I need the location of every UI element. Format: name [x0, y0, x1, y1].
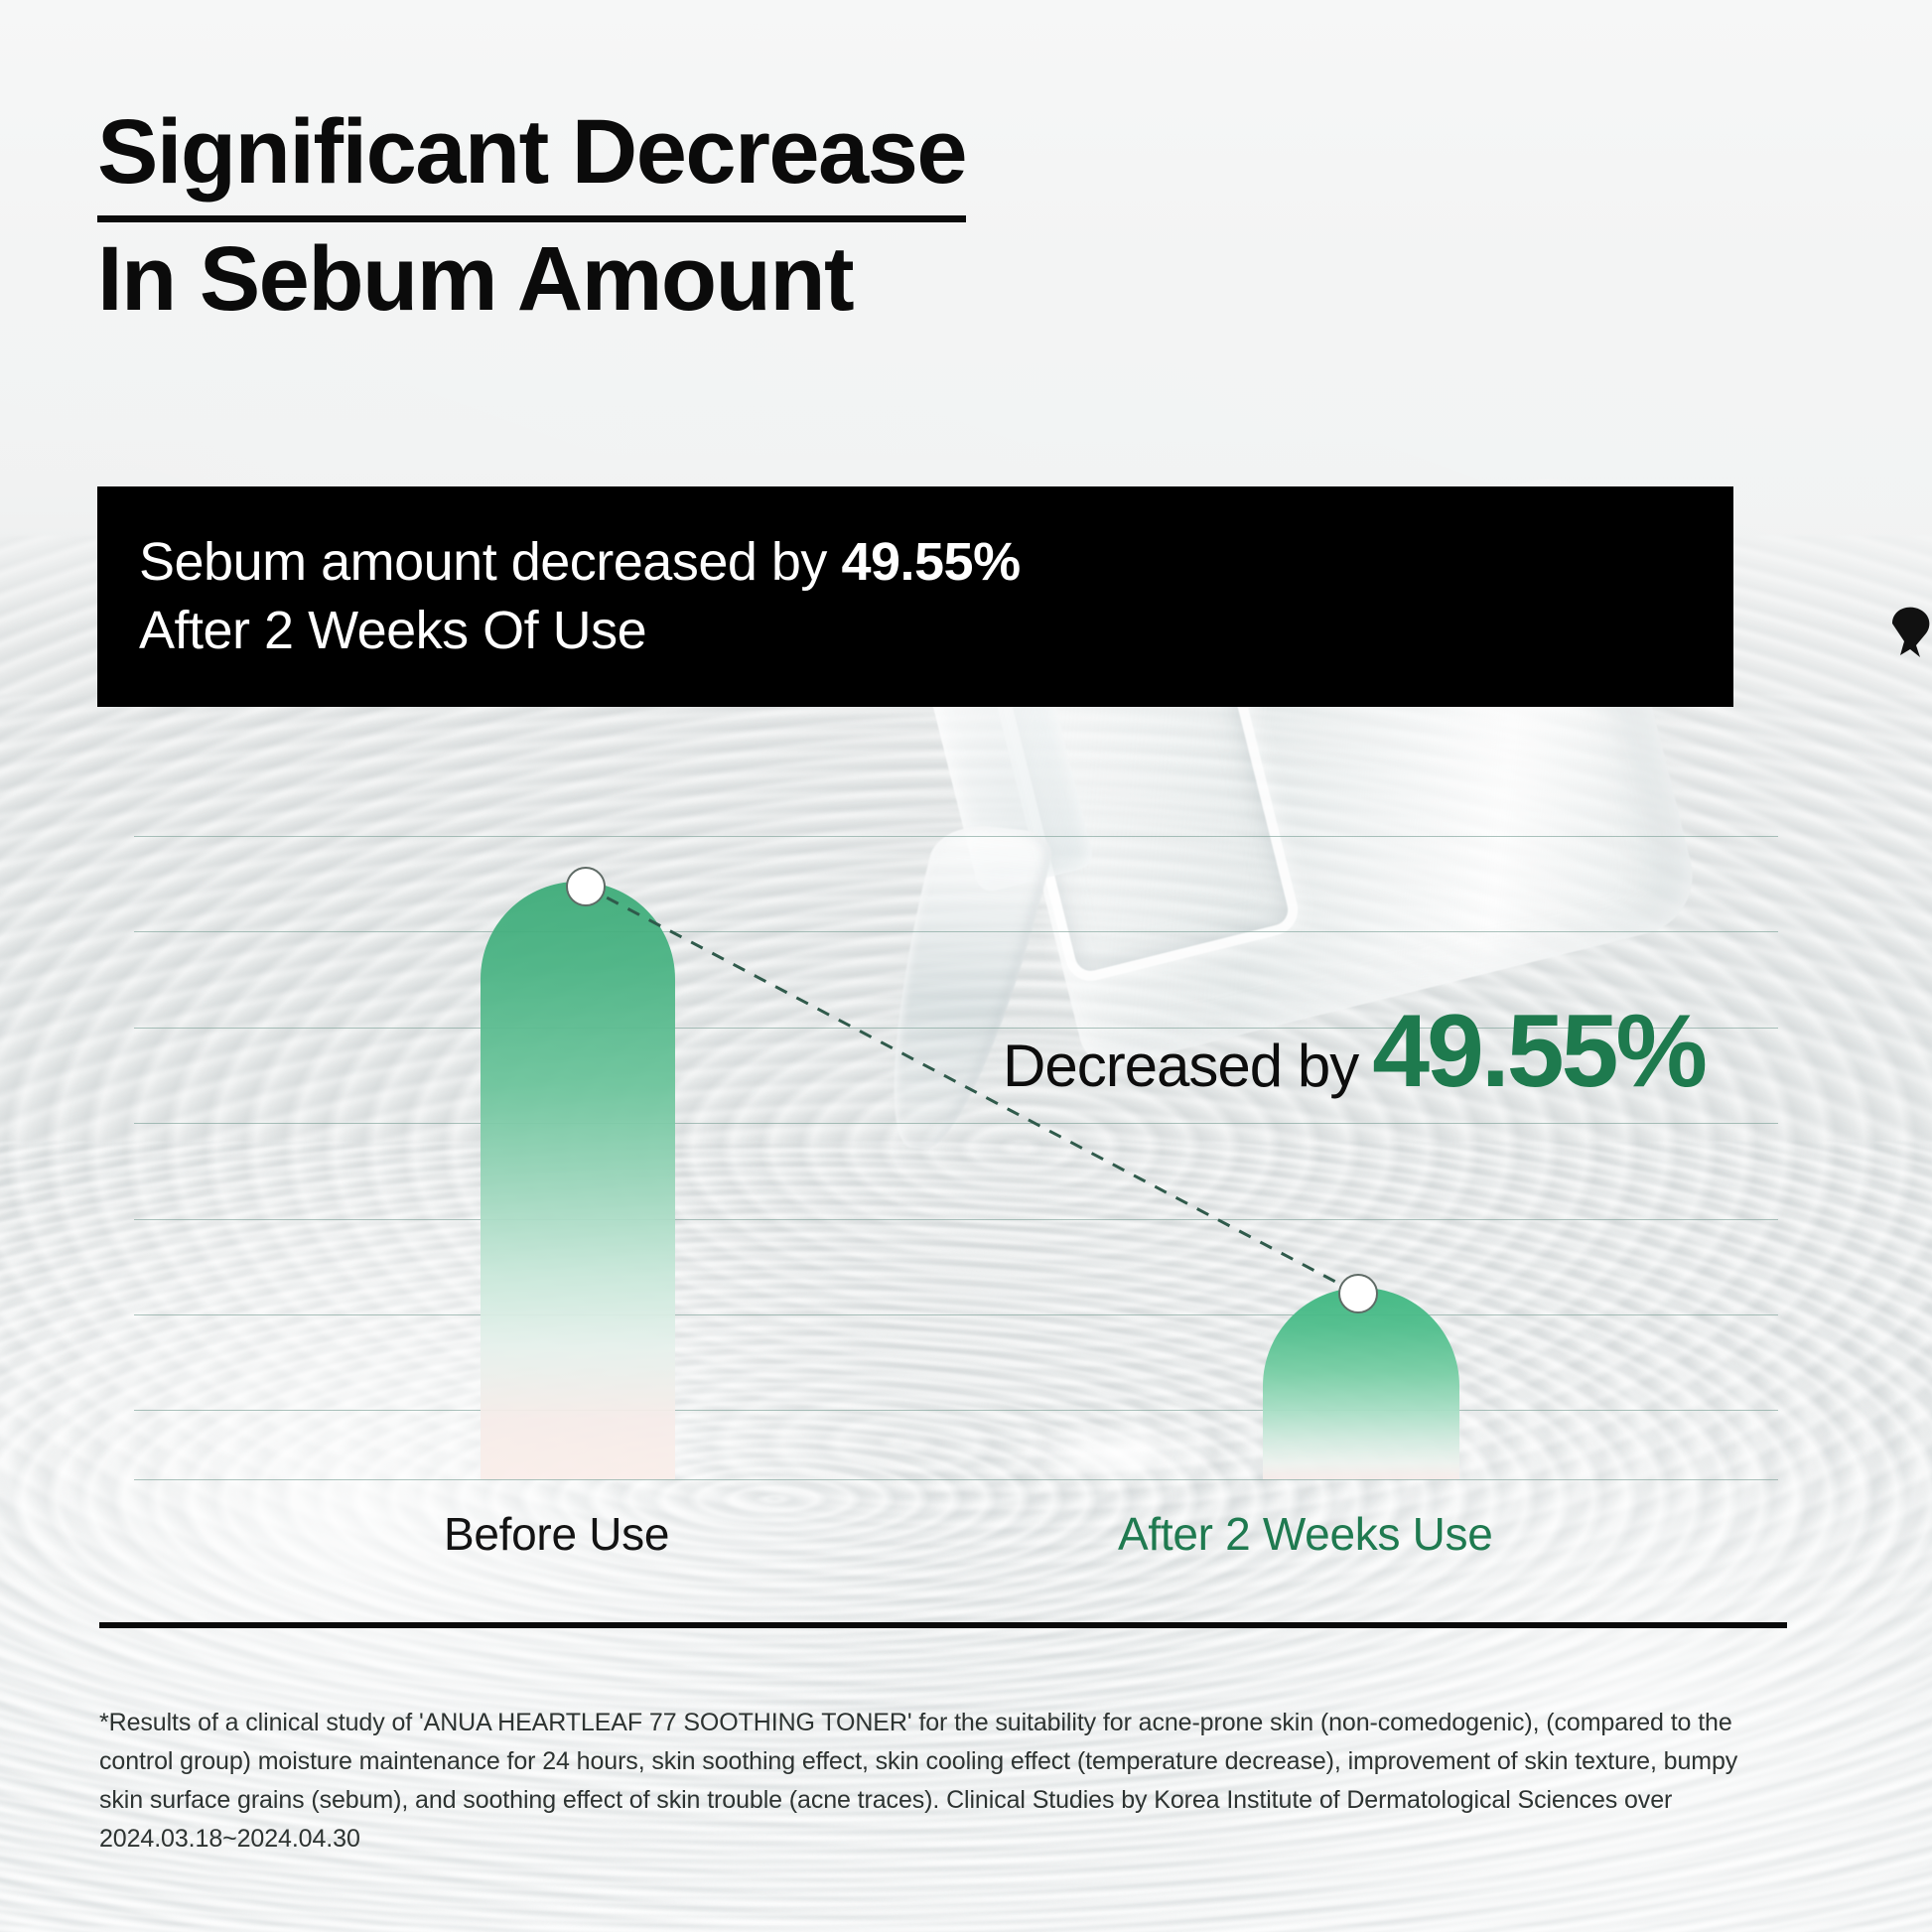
result-banner: Sebum amount decreased by 49.55% After 2…	[97, 486, 1733, 707]
cropped-glyph-icon	[1886, 596, 1932, 685]
result-banner-line-2: After 2 Weeks Of Use	[139, 597, 1733, 665]
page-title: Significant Decrease In Sebum Amount	[97, 95, 1289, 337]
result-banner-value: 49.55%	[841, 532, 1020, 592]
headline-line-1: Significant Decrease	[97, 95, 966, 222]
result-banner-prefix: Sebum amount decreased by	[139, 532, 841, 592]
infographic-canvas: Significant Decrease In Sebum Amount Seb…	[0, 0, 1932, 1932]
footer-divider	[99, 1622, 1787, 1628]
headline-line-2: In Sebum Amount	[97, 222, 1289, 337]
decrease-callout-value: 49.55%	[1372, 993, 1705, 1111]
data-point-before-use	[566, 867, 606, 906]
result-banner-line-1: Sebum amount decreased by 49.55%	[139, 528, 1733, 597]
decrease-callout: Decreased by 49.55%	[1003, 993, 1705, 1111]
axis-label-after-2-weeks: After 2 Weeks Use	[1118, 1507, 1493, 1561]
decrease-callout-lead: Decreased by	[1003, 1032, 1358, 1100]
axis-label-before-use: Before Use	[444, 1507, 669, 1561]
footnote-text: *Results of a clinical study of 'ANUA HE…	[99, 1704, 1787, 1859]
data-point-after-2-weeks	[1338, 1274, 1378, 1313]
